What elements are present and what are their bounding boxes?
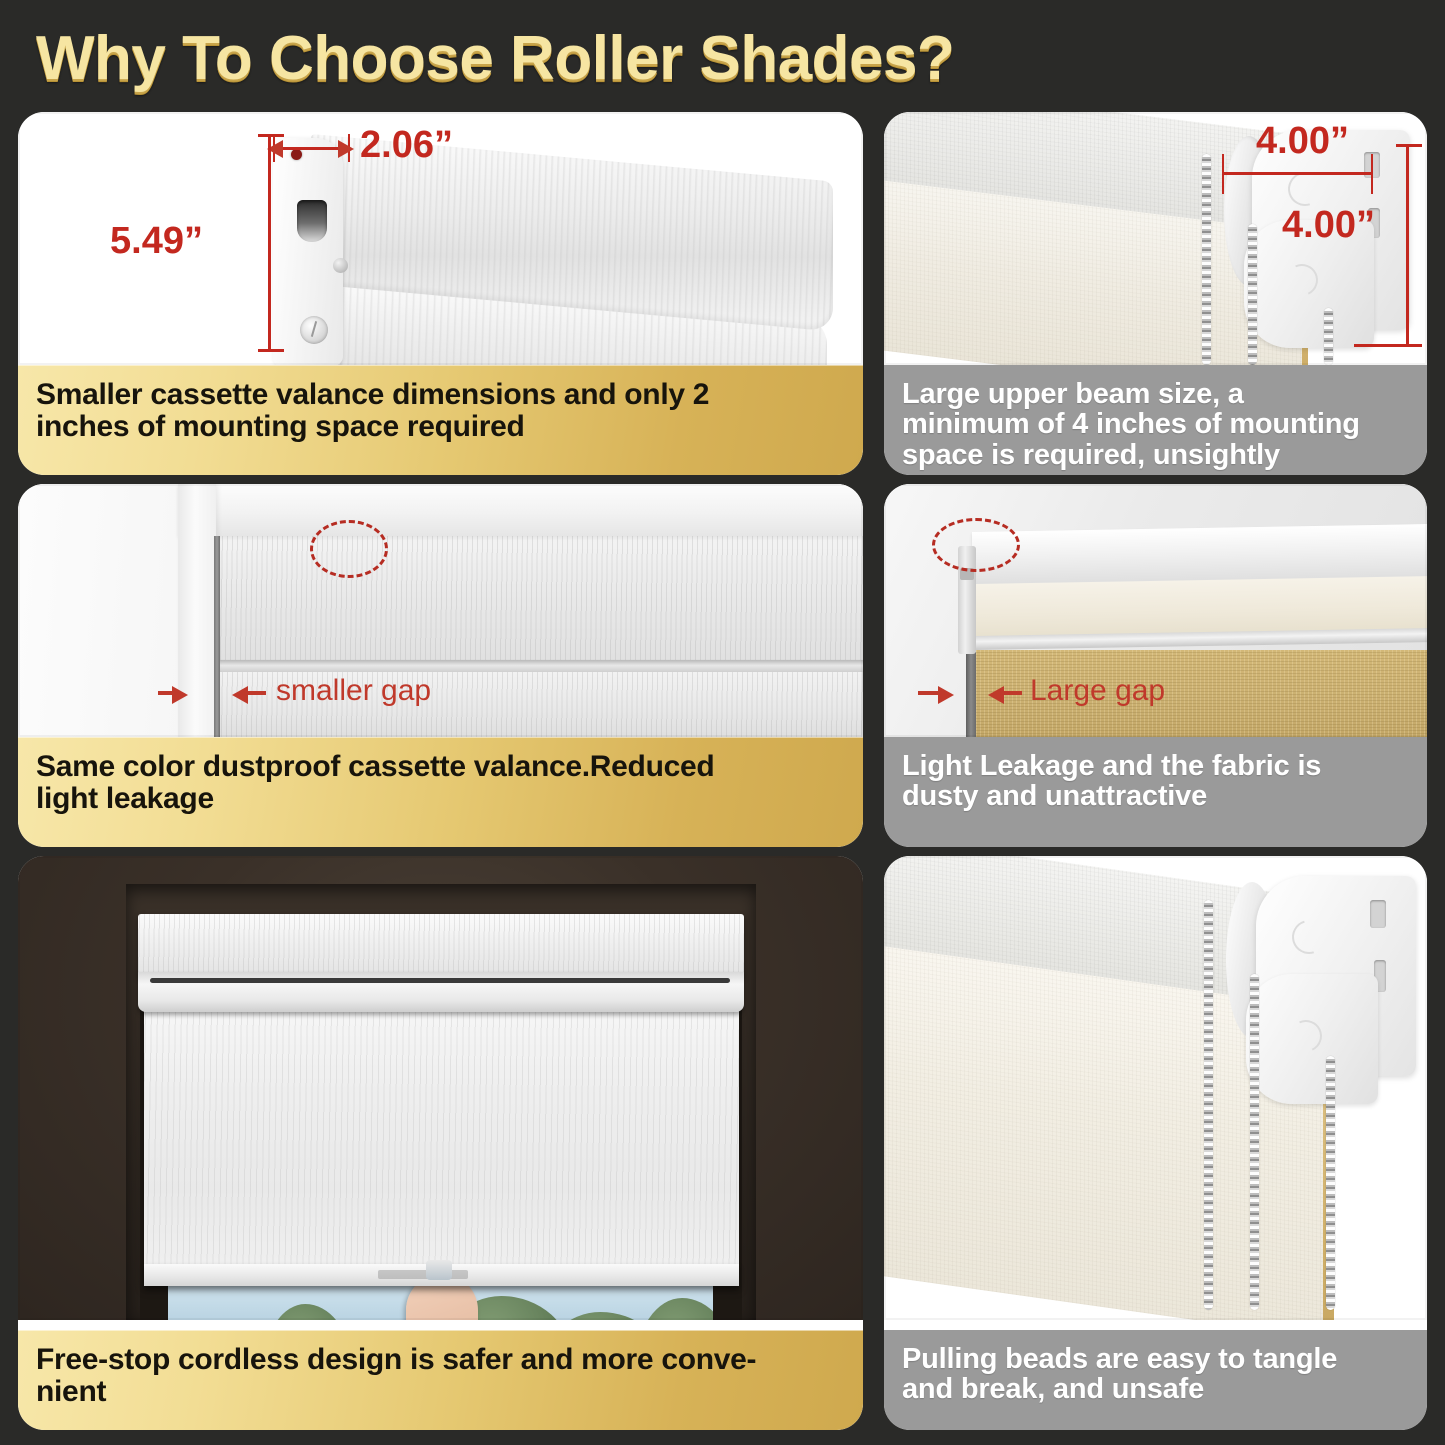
gap-arrow-right-icon [172,686,188,704]
beam-dim-line-horizontal [1222,172,1372,175]
page-title-text: Why To Choose Roller Shades? [36,23,954,94]
caption-line-2: minimum of 4 inches of mounting [902,409,1411,439]
caption-pro-smaller-gap: Same color dustproof cassette valance.Re… [18,737,863,847]
panel-pro-smaller-gap: smaller gap Same color dustproof cassett… [18,484,863,847]
dim-arrow-right-icon [338,140,354,158]
dimension-label-beam-width: 4.00” [1256,120,1349,163]
bead-chain-front[interactable] [1204,900,1213,1310]
caption-con-large-gap: Light Leakage and the fabric is dusty an… [884,737,1427,847]
caption-line-1: Smaller cassette valance dimensions and … [36,379,847,411]
shade-side-gap [214,536,220,737]
page-title: Why To Choose Roller Shades? [36,18,954,98]
dimension-label-height: 5.49” [110,220,203,263]
roller-shade-fabric [144,1010,739,1286]
caption-line-2: and break, and unsafe [902,1374,1411,1404]
caption-pro-cassette-dimensions: Smaller cassette valance dimensions and … [18,365,863,475]
valance-end-cap [273,138,343,365]
gap-arrow-left-icon [232,686,248,704]
detail-highlight-circle-icon [310,520,388,578]
detail-highlight-circle-icon [932,518,1020,572]
caption-line-2: dusty and unattractive [902,781,1411,811]
shade-pull-handle[interactable] [426,1260,452,1280]
caption-con-large-beam: Large upper beam size, a minimum of 4 in… [884,365,1427,475]
dim-cap-bottom [258,349,284,352]
valance-bracket-slot [297,200,327,242]
panel-con-pull-beads: Pulling beads are easy to tangle and bre… [884,856,1427,1430]
panel-3-photo: smaller gap [18,484,863,737]
dim-line-vertical [268,134,271,352]
caption-line-1: Pulling beads are easy to tangle [902,1344,1411,1374]
panel-1-photo: 2.06” 5.49” [18,112,863,365]
caption-line-2: light leakage [36,783,847,815]
bead-chain-rear[interactable] [1326,1056,1335,1310]
caption-line-1: Same color dustproof cassette valance.Re… [36,751,847,783]
panel-4-photo: Large gap [884,484,1427,737]
bead-chain-front [1202,154,1211,365]
shade-side-gap-large [966,652,976,737]
caption-line-1: Light Leakage and the fabric is [902,751,1411,781]
cassette-valance-illustration [273,130,833,355]
infographic-page: Why To Choose Roller Shades? [0,0,1445,1445]
panel-pro-cordless: Free-stop cordless design is safer and m… [18,856,863,1430]
panel-con-large-beam: 4.00” 4.00” Large upper beam size, a min… [884,112,1427,475]
caption-line-1: Large upper beam size, a [902,379,1411,409]
panel-2-photo: 4.00” 4.00” [884,112,1427,365]
caption-con-pull-beads: Pulling beads are easy to tangle and bre… [884,1330,1427,1430]
gap-arrow-right-icon [938,686,954,704]
panel-con-large-gap: Large gap Light Leakage and the fabric i… [884,484,1427,847]
panel-pro-cassette-dimensions: 2.06” 5.49” Smaller cassette valance dim… [18,112,863,475]
panel-6-photo [884,856,1427,1320]
dimension-label-beam-height: 4.00” [1282,204,1375,247]
valance-screw-icon [300,316,328,344]
dim-cap-top [258,134,284,137]
bead-chain-middle [1248,224,1257,365]
caption-line-1: Free-stop cordless design is safer and m… [36,1344,847,1376]
shade-bracket-lower [1246,974,1378,1104]
gap-arrow-left-icon [988,686,1004,704]
gap-callout-label: Large gap [1030,674,1165,708]
gap-callout-label: smaller gap [276,674,431,708]
valance-screw-small-icon [333,258,348,273]
caption-pro-cordless: Free-stop cordless design is safer and m… [18,1330,863,1430]
panel-grid: 2.06” 5.49” Smaller cassette valance dim… [18,112,1427,1430]
caption-line-3: space is required, unsightly [902,440,1411,470]
bead-chain-middle[interactable] [1250,974,1259,1310]
cassette-valance [138,914,744,976]
caption-line-2: inches of mounting space required [36,411,847,443]
dimension-label-width: 2.06” [360,124,453,167]
panel-5-photo [18,856,863,1320]
caption-line-2: nient [36,1376,847,1408]
bead-chain-rear [1324,308,1333,365]
beam-dim-line-vertical [1406,144,1409,347]
